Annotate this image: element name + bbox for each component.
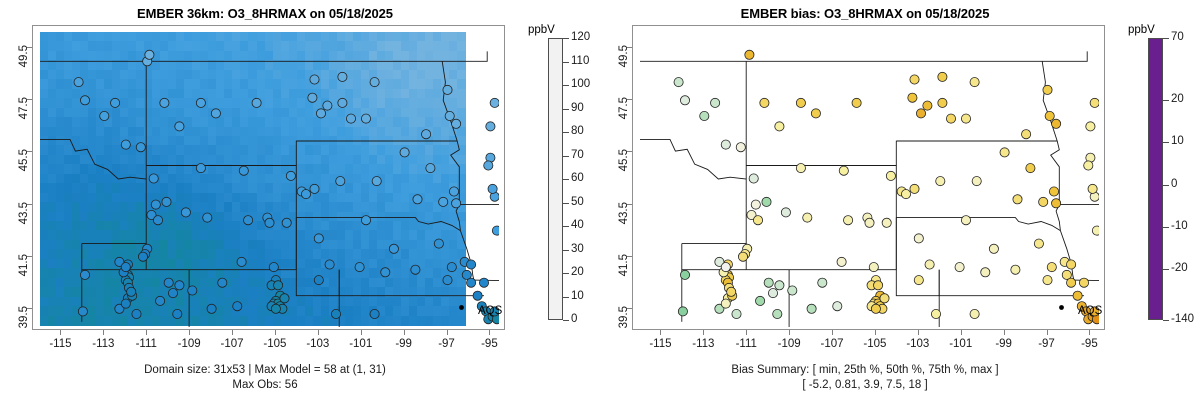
x-axis-tick-label: -105 [252,338,298,350]
aqs-legend-label: AQS [478,305,502,317]
aqs-site-marker[interactable] [239,166,248,175]
aqs-site-marker[interactable] [237,257,246,266]
aqs-site-marker[interactable] [323,101,332,110]
aqs-site-marker[interactable] [411,265,420,274]
bias-map-overlay [640,30,1099,327]
aqs-site-marker[interactable] [196,164,205,173]
colorbar-tick-label: -20 [1171,262,1188,274]
aqs-site-marker[interactable] [426,164,435,173]
aqs-site-marker[interactable] [972,177,981,186]
aqs-site-marker[interactable] [796,98,805,107]
colorbar-tick [563,132,569,133]
aqs-site-marker[interactable] [1088,184,1097,193]
y-axis-tick-label: 47.5 [18,97,30,137]
aqs-site-marker[interactable] [1034,239,1043,248]
aqs-site-marker[interactable] [443,85,452,94]
colorbar-tick-label: 110 [571,55,589,67]
x-axis-tick [789,330,790,335]
aqs-site-marker[interactable] [138,252,147,261]
colorbar-tick-label: 70 [1171,31,1184,43]
aqs-site-marker[interactable] [970,309,979,318]
aqs-site-marker[interactable] [923,101,932,110]
colorbar-tick-label: 10 [571,290,584,302]
aqs-site-marker[interactable] [938,72,947,81]
x-axis-tick [918,330,919,335]
bias-caption-line2: [ -5.2, 0.81, 3.9, 7.5, 18 ] [600,379,1130,391]
aqs-site-marker[interactable] [492,226,499,235]
aqs-site-marker[interactable] [910,75,919,84]
aqs-site-marker[interactable] [145,50,154,59]
state-boundary [442,61,457,141]
aqs-site-marker[interactable] [764,278,773,287]
aqs-site-marker[interactable] [1022,130,1031,139]
aqs-site-marker[interactable] [282,218,291,227]
aqs-site-marker[interactable] [751,200,760,209]
colorbar-tick-label: 120 [571,31,590,43]
y-axis-tick-label: 39.5 [618,306,630,346]
aqs-site-marker[interactable] [871,304,880,313]
x-axis-tick [189,330,190,335]
aqs-site-marker[interactable] [727,287,736,296]
state-boundary [896,270,1084,296]
colorbar-tick-label: 100 [571,78,590,90]
colorbar-tick [563,250,569,251]
aqs-site-marker[interactable] [680,96,689,105]
aqs-site-marker[interactable] [931,309,940,318]
aqs-site-marker[interactable] [452,119,461,128]
aqs-site-marker[interactable] [188,286,197,295]
aqs-site-marker[interactable] [338,72,347,81]
aqs-site-marker[interactable] [1000,148,1009,157]
state-boundary [640,51,1087,61]
x-axis-tick-label: -95 [466,338,512,350]
aqs-site-marker[interactable] [445,111,454,120]
aqs-site-marker[interactable] [839,166,848,175]
state-boundary [1051,141,1061,231]
aqs-site-marker[interactable] [736,143,745,152]
aqs-site-marker[interactable] [886,171,895,180]
state-boundary [296,218,460,231]
aqs-site-marker[interactable] [196,98,205,107]
aqs-site-marker[interactable] [1039,197,1048,206]
x-axis-tick [832,330,833,335]
aqs-site-marker[interactable] [700,111,709,120]
colorbar-tick [1163,142,1169,143]
colorbar-tick [1163,269,1169,270]
aqs-site-marker[interactable] [486,122,495,131]
colorbar-tick-label: -10 [1171,220,1188,232]
aqs-site-marker[interactable] [1052,199,1061,208]
aqs-site-marker[interactable] [314,234,323,243]
state-boundary [682,244,746,270]
state-boundary [640,139,746,243]
x-axis-tick-label: -107 [209,338,255,350]
aqs-site-marker[interactable] [955,263,964,272]
aqs-site-marker[interactable] [869,263,878,272]
aqs-site-marker[interactable] [80,96,89,105]
aqs-site-marker[interactable] [252,98,261,107]
x-axis-tick [961,330,962,335]
x-axis-tick [232,330,233,335]
colorbar-tick [1163,227,1169,228]
aqs-site-marker[interactable] [852,98,861,107]
aqs-site-marker[interactable] [818,278,827,287]
aqs-site-marker[interactable] [1047,263,1056,272]
x-axis-tick [60,330,61,335]
colorbar-tick [563,38,569,39]
aqs-site-marker[interactable] [768,289,777,298]
aqs-site-marker[interactable] [346,114,355,123]
aqs-site-marker[interactable] [775,122,784,131]
aqs-site-marker[interactable] [156,296,165,305]
aqs-site-marker[interactable] [488,184,497,193]
aqs-site-marker[interactable] [439,197,448,206]
aqs-site-marker[interactable] [1067,278,1076,287]
aqs-site-marker[interactable] [164,278,173,287]
x-axis-tick [103,330,104,335]
state-boundary [1042,61,1057,141]
state-boundary [296,270,484,296]
colorbar-tick [1163,185,1169,186]
aqs-site-marker[interactable] [78,307,87,316]
aqs-site-marker[interactable] [121,299,130,308]
aqs-site-marker[interactable] [1084,161,1093,170]
aqs-site-marker[interactable] [233,302,242,311]
y-axis-tick-label: 49.5 [618,45,630,85]
x-axis-tick-label: -111 [723,338,769,350]
aqs-site-marker[interactable] [961,216,970,225]
colorbar-tick-label: 90 [571,102,584,114]
colorbar-tick [1163,100,1169,101]
aqs-site-marker[interactable] [1073,291,1082,300]
colorbar-unit-label: ppbV [528,24,555,36]
colorbar-tick [563,156,569,157]
aqs-site-marker[interactable] [400,148,409,157]
aqs-site-marker[interactable] [274,281,283,290]
y-axis-tick-label: 47.5 [618,97,630,137]
bias-plot-area[interactable] [632,25,1105,330]
state-boundary [146,141,296,166]
aqs-site-marker[interactable] [721,263,730,272]
x-axis-tick-label: -97 [1024,338,1070,350]
aqs-site-marker[interactable] [874,281,883,290]
aqs-site-marker[interactable] [355,263,364,272]
aqs-site-marker[interactable] [331,309,340,318]
state-boundary [146,166,296,270]
aqs-site-marker[interactable] [286,171,295,180]
x-axis-tick [1089,330,1090,335]
colorbar-tick-label: 0 [571,313,577,325]
colorbar-tick-label: -140 [1171,313,1194,325]
aqs-site-marker[interactable] [452,199,461,208]
aqs-site-marker[interactable] [1045,111,1054,120]
aqs-site-marker[interactable] [467,278,476,287]
state-boundary [40,139,146,243]
x-axis-tick-label: -99 [381,338,427,350]
aqs-site-marker[interactable] [678,307,687,316]
aqs-site-marker[interactable] [479,278,488,287]
colorbar-tick-label: 40 [571,219,584,231]
aqs-site-marker[interactable] [925,260,934,269]
aqs-site-marker[interactable] [80,270,89,279]
aqs-site-marker[interactable] [361,114,370,123]
aqs-site-marker[interactable] [1092,226,1099,235]
aqs-site-marker[interactable] [151,200,160,209]
model-map-overlay [40,30,499,327]
aqs-site-marker[interactable] [775,281,784,290]
x-axis-tick [489,330,490,335]
aqs-site-marker[interactable] [269,263,278,272]
aqs-site-marker[interactable] [796,164,805,173]
colorbar-tick [563,297,569,298]
bias-panel: EMBER bias: O3_8HRMAX on 05/18/2025 AQS … [600,0,1200,409]
y-axis-tick-label: 43.5 [18,202,30,242]
aqs-site-marker[interactable] [1043,85,1052,94]
model-panel: EMBER 36km: O3_8HRMAX on 05/18/2025 AQS … [0,0,600,409]
y-axis-tick-label: 43.5 [618,202,630,242]
aqs-site-marker[interactable] [916,109,925,118]
aqs-site-marker[interactable] [100,111,109,120]
colorbar-tick [563,226,569,227]
aqs-site-marker[interactable] [833,302,842,311]
aqs-site-marker[interactable] [175,122,184,131]
colorbar-tick-label: 10 [1171,135,1184,147]
colorbar-tick [563,273,569,274]
aqs-site-marker[interactable] [370,78,379,87]
aqs-site-marker[interactable] [760,98,769,107]
aqs-site-marker[interactable] [961,114,970,123]
aqs-site-marker[interactable] [473,291,482,300]
aqs-site-marker[interactable] [422,130,431,139]
aqs-site-marker[interactable] [127,287,136,296]
aqs-site-marker[interactable] [773,309,782,318]
aqs-site-marker[interactable] [745,50,754,59]
state-boundary [82,244,146,270]
state-boundary [746,141,896,166]
aqs-site-marker[interactable] [361,216,370,225]
x-axis-tick-label: -113 [680,338,726,350]
x-axis-tick [146,330,147,335]
colorbar-tick-label: 50 [571,196,584,208]
state-boundary [451,141,461,231]
y-axis-tick-label: 49.5 [18,45,30,85]
y-axis-tick-label: 41.5 [18,254,30,294]
aqs-site-marker[interactable] [1026,164,1035,173]
colorbar-tick [563,62,569,63]
aqs-site-marker[interactable] [807,304,816,313]
aqs-site-marker[interactable] [121,140,130,149]
bias-caption-line1: Bias Summary: [ min, 25th %, 50th %, 75t… [600,364,1130,376]
aqs-site-marker[interactable] [1052,119,1061,128]
aqs-site-marker[interactable] [271,304,280,313]
aqs-site-marker[interactable] [1079,278,1088,287]
page-title: EMBER 36km: O3_8HRMAX on 05/18/2025 [0,6,530,21]
aqs-site-marker[interactable] [803,213,812,222]
y-axis-tick-label: 39.5 [18,306,30,346]
aqs-site-marker[interactable] [325,260,334,269]
aqs-site-marker[interactable] [938,98,947,107]
aqs-site-marker[interactable] [674,78,683,87]
aqs-site-marker[interactable] [136,143,145,152]
aqs-site-marker[interactable] [749,174,758,183]
aqs-site-marker[interactable] [882,218,891,227]
aqs-site-marker[interactable] [168,289,177,298]
aqs-site-marker[interactable] [781,208,790,217]
aqs-site-marker[interactable] [308,93,317,102]
aqs-site-marker[interactable] [301,190,310,199]
aqs-site-marker[interactable] [738,252,747,261]
aqs-site-marker[interactable] [756,296,765,305]
aqs-site-marker[interactable] [1067,260,1076,269]
aqs-site-marker[interactable] [175,281,184,290]
state-boundary [746,166,896,270]
x-axis-tick-label: -99 [981,338,1027,350]
aqs-site-marker[interactable] [837,257,846,266]
aqs-site-marker[interactable] [1086,122,1095,131]
aqs-site-marker[interactable] [1049,187,1058,196]
aqs-site-marker[interactable] [914,276,923,285]
x-axis-tick [1047,330,1048,335]
aqs-site-marker[interactable] [338,98,347,107]
colorbar-tick-label: 30 [571,243,584,255]
aqs-site-marker[interactable] [310,184,319,193]
x-axis-tick-label: -95 [1066,338,1112,350]
colorbar-tick-label: 60 [571,172,584,184]
colorbar-tick-label: 20 [1171,93,1184,105]
y-axis-tick-label: 45.5 [18,149,30,189]
aqs-site-marker[interactable] [981,268,990,277]
x-axis-tick-label: -115 [37,338,83,350]
model-plot-area[interactable] [32,25,505,330]
aqs-site-marker[interactable] [160,98,169,107]
aqs-site-marker[interactable] [711,98,720,107]
aqs-site-marker[interactable] [434,239,443,248]
aqs-legend-dot [1059,305,1064,310]
colorbar-tick [563,85,569,86]
colorbar-tick-label: 80 [571,125,584,137]
aqs-site-marker[interactable] [370,309,379,318]
aqs-site-marker[interactable] [372,177,381,186]
aqs-site-marker[interactable] [970,78,979,87]
aqs-site-marker[interactable] [211,109,220,118]
aqs-site-marker[interactable] [680,270,689,279]
y-axis-tick-label: 41.5 [618,254,630,294]
colorbar-tick [1163,38,1169,39]
aqs-site-marker[interactable] [910,184,919,193]
state-boundary [40,51,487,61]
x-axis-tick-label: -101 [338,338,384,350]
aqs-site-marker[interactable] [1013,195,1022,204]
aqs-site-marker[interactable] [721,140,730,149]
aqs-site-marker[interactable] [207,304,216,313]
aqs-site-marker[interactable] [732,309,741,318]
state-boundary [896,218,1060,231]
aqs-legend-label-bias: AQS [1078,305,1102,317]
aqs-site-marker[interactable] [908,93,917,102]
aqs-site-marker[interactable] [153,216,162,225]
colorbar-tick [1163,320,1169,321]
colorbar-tick [563,179,569,180]
x-axis-tick [660,330,661,335]
aqs-site-marker[interactable] [901,190,910,199]
aqs-site-marker[interactable] [173,309,182,318]
aqs-site-marker[interactable] [788,286,797,295]
aqs-site-marker[interactable] [162,197,171,206]
aqs-site-marker[interactable] [310,75,319,84]
aqs-site-marker[interactable] [1090,98,1099,107]
aqs-site-marker[interactable] [449,187,458,196]
x-axis-tick-label: -109 [766,338,812,350]
aqs-site-marker[interactable] [753,216,762,225]
aqs-site-marker[interactable] [381,268,390,277]
x-axis-tick-label: -115 [637,338,683,350]
aqs-site-marker[interactable] [316,109,325,118]
aqs-site-marker[interactable] [265,218,274,227]
aqs-site-marker[interactable] [946,114,955,123]
colorbar-gradient [548,38,563,320]
x-axis-tick-label: -111 [123,338,169,350]
aqs-site-marker[interactable] [314,276,323,285]
aqs-site-marker[interactable] [1043,276,1052,285]
aqs-site-marker[interactable] [132,309,141,318]
aqs-site-marker[interactable] [121,263,130,272]
aqs-site-marker[interactable] [244,216,253,225]
aqs-site-marker[interactable] [336,177,345,186]
aqs-site-marker[interactable] [111,98,120,107]
aqs-site-marker[interactable] [914,234,923,243]
aqs-site-marker[interactable] [74,78,83,87]
aqs-site-marker[interactable] [490,98,499,107]
x-axis-tick [318,330,319,335]
aqs-legend-dot [459,305,464,310]
aqs-site-marker[interactable] [389,244,398,253]
aqs-site-marker[interactable] [413,195,422,204]
x-axis-tick [703,330,704,335]
aqs-site-marker[interactable] [218,278,227,287]
aqs-site-marker[interactable] [443,276,452,285]
x-axis-tick [746,330,747,335]
aqs-site-marker[interactable] [203,213,212,222]
aqs-site-marker[interactable] [181,208,190,217]
aqs-site-marker[interactable] [844,216,853,225]
colorbar-tick [563,109,569,110]
bias-map-canvas [640,30,1099,327]
x-axis-tick-label: -101 [938,338,984,350]
model-map-canvas [40,30,499,327]
aqs-site-marker[interactable] [762,197,771,206]
aqs-site-marker[interactable] [484,161,493,170]
aqs-site-marker[interactable] [865,218,874,227]
x-axis-tick-label: -107 [809,338,855,350]
x-axis-tick-label: -113 [80,338,126,350]
aqs-site-marker[interactable] [1011,265,1020,274]
aqs-site-marker[interactable] [280,294,289,303]
colorbar-tick-label: 20 [571,266,584,278]
colorbar-tick [563,320,569,321]
aqs-site-marker[interactable] [467,260,476,269]
aqs-site-marker[interactable] [721,299,730,308]
aqs-site-marker[interactable] [936,177,945,186]
x-axis-tick [447,330,448,335]
page-title-bias: EMBER bias: O3_8HRMAX on 05/18/2025 [600,6,1130,21]
aqs-site-marker[interactable] [880,294,889,303]
aqs-site-marker[interactable] [149,174,158,183]
aqs-site-marker[interactable] [447,263,456,272]
aqs-site-marker[interactable] [989,244,998,253]
aqs-site-marker[interactable] [811,109,820,118]
model-caption-line2: Max Obs: 56 [0,379,530,391]
colorbar-tick-label: 70 [571,149,584,161]
